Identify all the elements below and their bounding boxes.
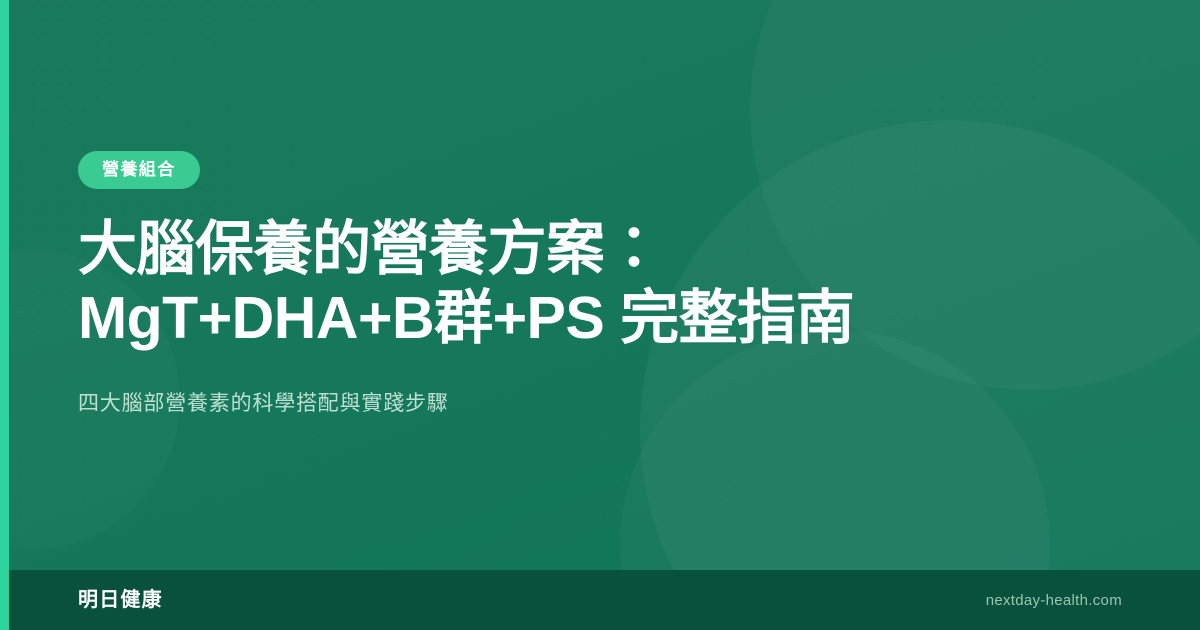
footer-bar: 明日健康 nextday-health.com (0, 570, 1200, 630)
left-accent-rail (0, 0, 9, 630)
share-card: 營養組合 大腦保養的營養方案：MgT+DHA+B群+PS 完整指南 四大腦部營養… (0, 0, 1200, 630)
brand-name: 明日健康 (78, 590, 163, 610)
site-domain: nextday-health.com (986, 593, 1122, 608)
card-content: 營養組合 大腦保養的營養方案：MgT+DHA+B群+PS 完整指南 四大腦部營養… (78, 0, 978, 570)
page-subtitle: 四大腦部營養素的科學搭配與實踐步驟 (78, 388, 838, 420)
category-badge: 營養組合 (78, 151, 200, 189)
page-title: 大腦保養的營養方案：MgT+DHA+B群+PS 完整指南 (78, 215, 868, 354)
